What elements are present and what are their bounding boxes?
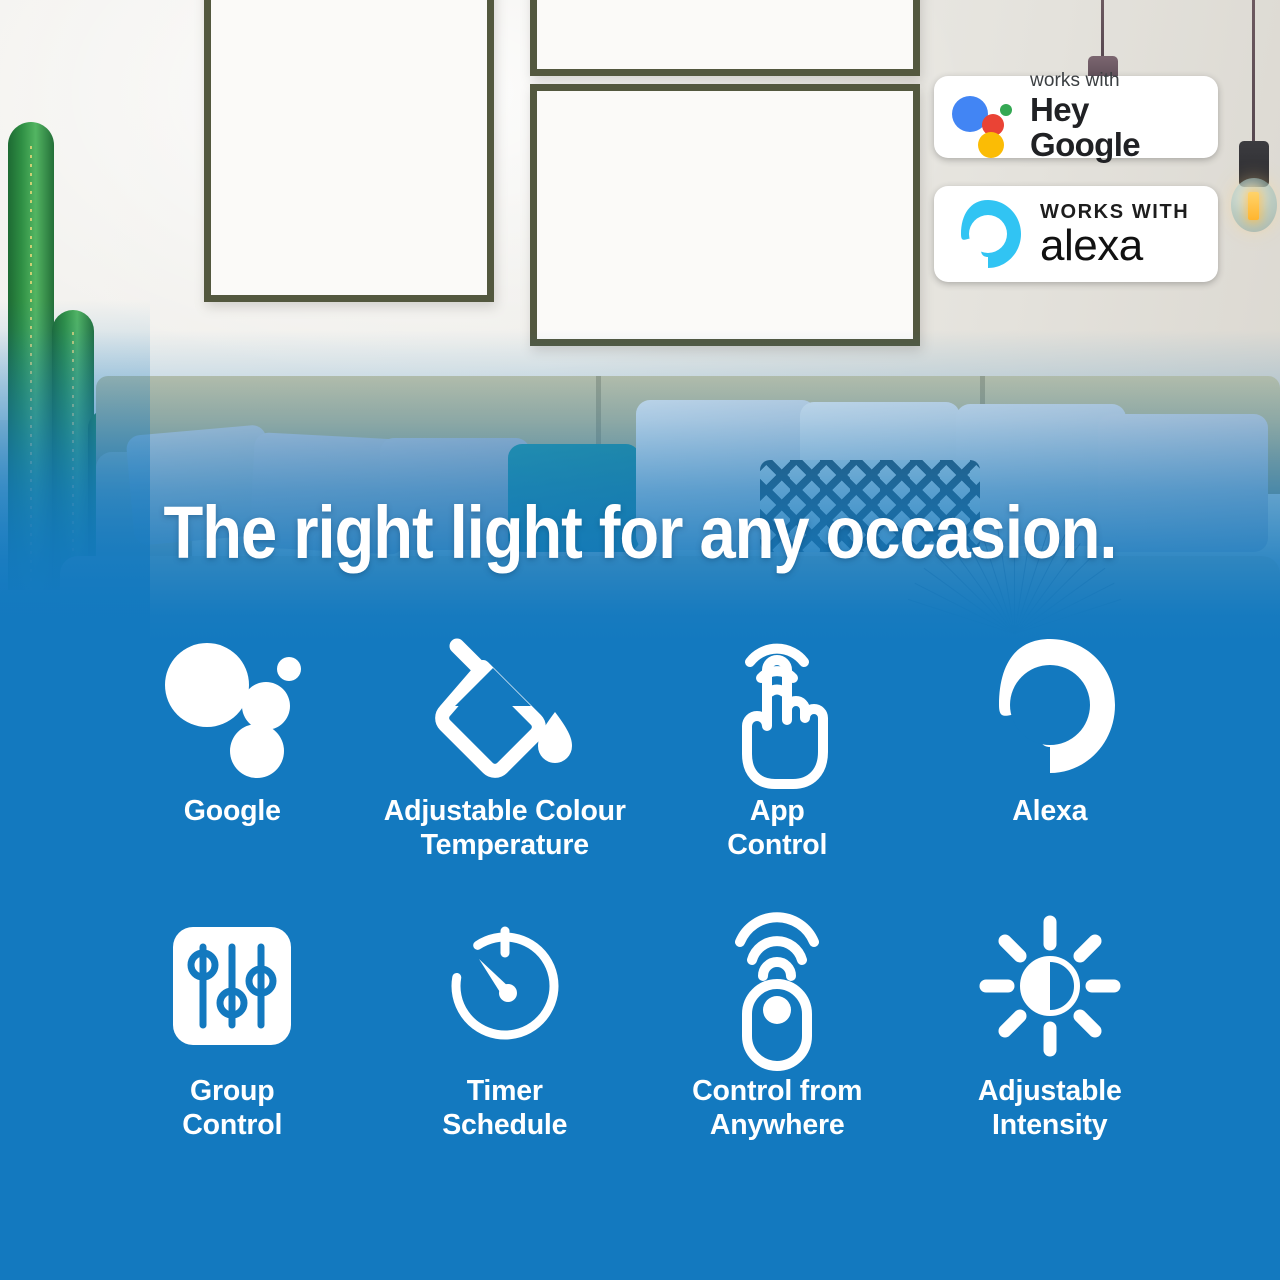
google-assistant-dots-icon bbox=[952, 88, 1014, 146]
blue-gradient-left-edge bbox=[0, 300, 150, 640]
alexa-ring-icon bbox=[981, 618, 1119, 793]
alexa-badge-works-with-text: WORKS WITH bbox=[1040, 201, 1189, 223]
google-badge-brand-text: Hey Google bbox=[1030, 92, 1202, 163]
product-feature-banner: works with Hey Google WORKS WITH alexa T… bbox=[0, 0, 1280, 1280]
alexa-badge-brand-text: alexa bbox=[1040, 224, 1189, 268]
feature-alexa: Alexa bbox=[914, 618, 1187, 898]
works-with-hey-google-badge[interactable]: works with Hey Google bbox=[934, 76, 1218, 158]
feature-label: Alexa bbox=[1012, 795, 1087, 829]
feature-group-control: Group Control bbox=[96, 898, 369, 1178]
paint-bucket-drop-icon bbox=[435, 618, 575, 793]
stopwatch-timer-icon bbox=[442, 898, 568, 1073]
compatibility-badges: works with Hey Google WORKS WITH alexa bbox=[934, 76, 1218, 282]
feature-label: Control from Anywhere bbox=[692, 1075, 862, 1142]
feature-grid: Google Adjustable Colour Temperature bbox=[96, 618, 1186, 1178]
feature-label: Google bbox=[184, 795, 281, 829]
feature-label: App Control bbox=[727, 795, 827, 862]
brightness-sun-icon bbox=[982, 898, 1118, 1073]
works-with-alexa-badge[interactable]: WORKS WITH alexa bbox=[934, 186, 1218, 282]
feature-label: Group Control bbox=[182, 1075, 282, 1142]
feature-label: Timer Schedule bbox=[442, 1075, 567, 1142]
feature-control-from-anywhere: Control from Anywhere bbox=[641, 898, 914, 1178]
remote-control-icon bbox=[718, 898, 836, 1073]
feature-label: Adjustable Intensity bbox=[978, 1075, 1122, 1142]
feature-adjustable-intensity: Adjustable Intensity bbox=[914, 898, 1187, 1178]
pointing-hand-wifi-icon bbox=[717, 618, 837, 793]
feature-google: Google bbox=[96, 618, 369, 898]
feature-timer-schedule: Timer Schedule bbox=[369, 898, 642, 1178]
feature-label: Adjustable Colour Temperature bbox=[384, 795, 626, 862]
google-badge-works-with-text: works with bbox=[1030, 71, 1202, 91]
google-assistant-icon bbox=[163, 618, 301, 793]
feature-app-control: App Control bbox=[641, 618, 914, 898]
sliders-panel-icon bbox=[171, 898, 293, 1073]
feature-adjustable-colour-temp: Adjustable Colour Temperature bbox=[369, 618, 642, 898]
page-headline: The right light for any occasion. bbox=[77, 496, 1203, 570]
alexa-ring-icon bbox=[952, 197, 1024, 271]
